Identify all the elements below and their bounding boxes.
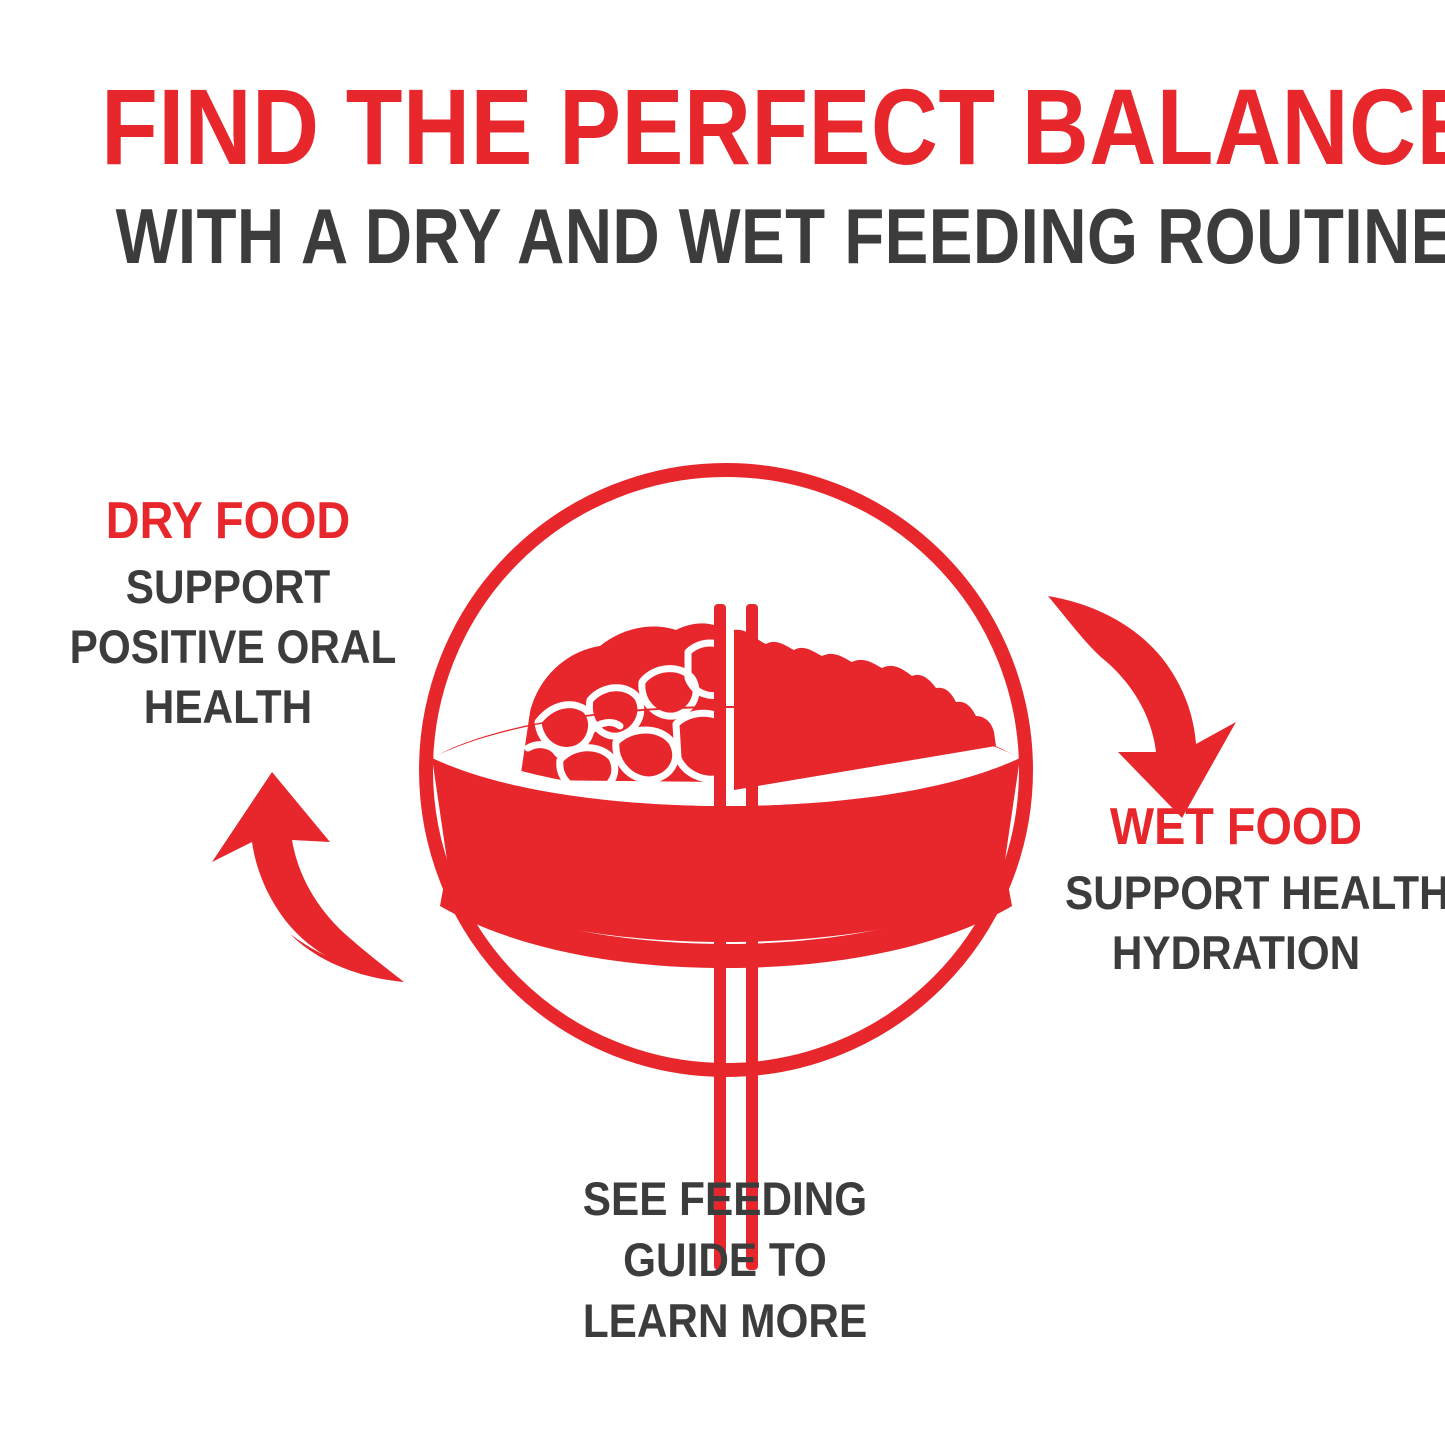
infographic-page: FIND THE PERFECT BALANCE WITH A DRY AND … <box>0 0 1445 1445</box>
dry-food-title: DRY FOOD <box>70 494 387 549</box>
dry-food-desc-line-3: HEALTH <box>70 677 387 737</box>
page-subtitle: WITH A DRY AND WET FEEDING ROUTINE <box>116 196 1330 278</box>
wet-food-fill-icon <box>734 630 996 790</box>
circle-outline-icon <box>426 470 1026 1070</box>
dry-food-desc-line-1: SUPPORT <box>70 557 387 617</box>
dry-kibble-fill-icon <box>520 623 726 792</box>
curved-arrow-down-right-icon <box>1048 596 1236 818</box>
caption-line-1: SEE FEEDING <box>491 1168 959 1229</box>
wet-food-desc-line-2: HYDRATION <box>1065 923 1407 983</box>
page-title: FIND THE PERFECT BALANCE <box>101 72 1344 182</box>
footer <box>0 1345 1445 1445</box>
caption-line-2: GUIDE TO <box>491 1229 959 1290</box>
wet-food-description: SUPPORT HEALTHY HYDRATION <box>1065 863 1407 983</box>
wet-food-desc-line-1: SUPPORT HEALTHY <box>1065 863 1407 923</box>
dry-food-desc-line-2: POSITIVE ORAL <box>70 617 387 677</box>
wet-food-title: WET FOOD <box>1065 800 1407 855</box>
headline-block: FIND THE PERFECT BALANCE WITH A DRY AND … <box>0 72 1445 278</box>
feeding-guide-caption: SEE FEEDING GUIDE TO LEARN MORE <box>491 1168 959 1351</box>
bowl-body-icon <box>432 706 1020 968</box>
curved-arrow-up-left-icon <box>212 772 404 982</box>
wet-food-panel: WET FOOD SUPPORT HEALTHY HYDRATION <box>1046 800 1426 983</box>
caption-line-3: LEARN MORE <box>491 1290 959 1351</box>
dry-food-description: SUPPORT POSITIVE ORAL HEALTH <box>70 557 387 737</box>
dry-food-panel: DRY FOOD SUPPORT POSITIVE ORAL HEALTH <box>52 494 404 737</box>
